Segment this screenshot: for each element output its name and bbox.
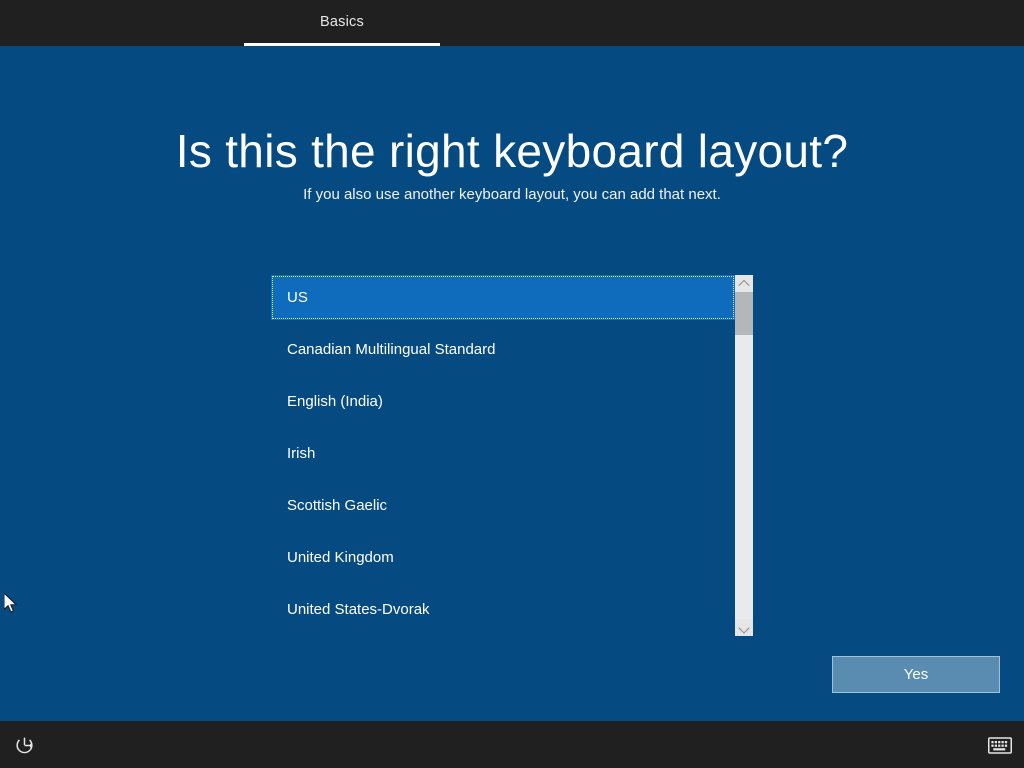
keyboard-icon [988,737,1012,754]
ease-of-access-keyboard-button[interactable] [985,730,1015,760]
list-item[interactable]: Scottish Gaelic [271,483,735,528]
list-item[interactable]: United States-Dvorak [271,587,735,632]
keyboard-layout-listbox[interactable]: USCanadian Multilingual StandardEnglish … [271,275,753,636]
bottom-taskbar [0,721,1024,768]
list-item[interactable]: US [271,275,735,320]
list-item[interactable]: United Kingdom [271,535,735,580]
page-title: Is this the right keyboard layout? [0,123,1024,179]
tab-basics[interactable]: Basics [244,0,440,43]
list-item[interactable]: Irish [271,431,735,476]
list-item[interactable]: Canadian Multilingual Standard [271,327,735,372]
chevron-down-icon [738,622,749,633]
list-scrollbar[interactable] [735,275,753,636]
top-chrome-bar: Basics [0,0,1024,46]
keyboard-layout-list[interactable]: USCanadian Multilingual StandardEnglish … [271,275,735,636]
list-item[interactable]: English (India) [271,379,735,424]
chevron-up-icon [738,279,749,290]
tab-strip: Basics [244,0,440,46]
oobe-screen: Basics Is this the right keyboard layout… [0,0,1024,768]
scroll-down-button[interactable] [735,619,753,636]
power-icon [14,735,35,756]
page-subtitle: If you also use another keyboard layout,… [0,185,1024,205]
scrollbar-thumb[interactable] [735,292,753,335]
confirm-yes-button[interactable]: Yes [832,656,1000,693]
scrollbar-track[interactable] [735,292,753,619]
power-button[interactable] [9,730,39,760]
main-content: Is this the right keyboard layout? If yo… [0,46,1024,721]
scroll-up-button[interactable] [735,275,753,292]
